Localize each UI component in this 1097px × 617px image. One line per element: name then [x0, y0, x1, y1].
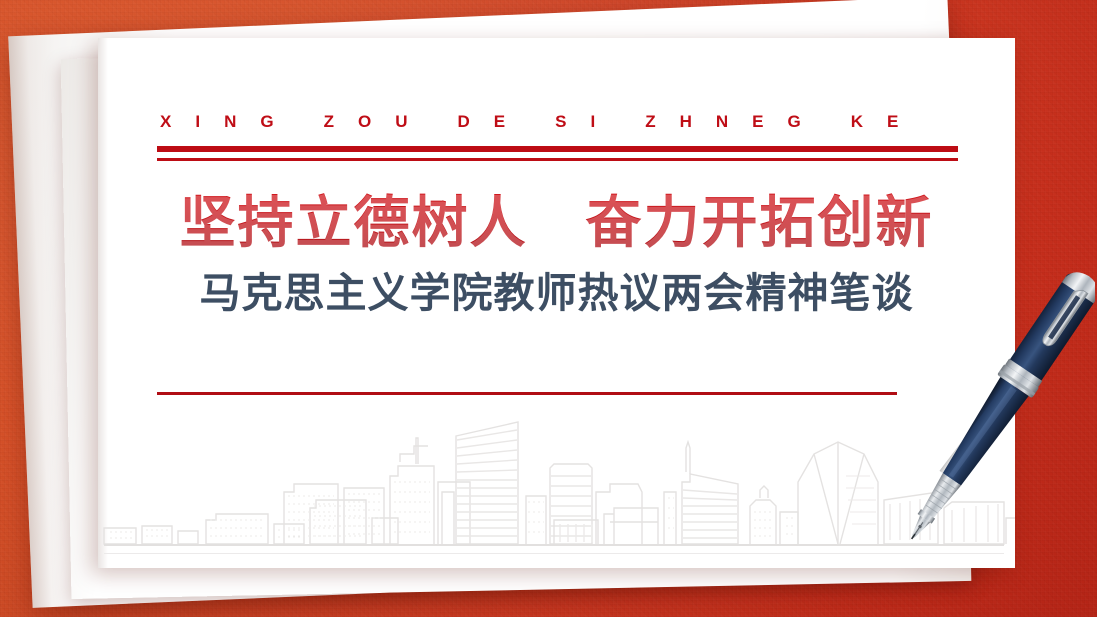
pinyin-letter: H	[680, 112, 693, 132]
page-title: 坚持立德树人 奋力开拓创新	[98, 191, 1015, 257]
pinyin-letter: E	[887, 112, 899, 132]
pinyin-kicker: XINGZOUDESIZHNEGKE	[160, 112, 960, 132]
poster-canvas: XINGZOUDESIZHNEGKE 坚持立德树人 奋力开拓创新 马克思主义学院…	[0, 0, 1097, 617]
pinyin-letter: Z	[324, 112, 335, 132]
pinyin-letter: N	[224, 112, 237, 132]
pinyin-letter: I	[195, 112, 201, 132]
city-skyline-watermark	[98, 396, 1015, 556]
pinyin-letter: D	[458, 112, 471, 132]
pinyin-kicker-text: XINGZOUDESIZHNEGKE	[160, 112, 922, 131]
skyline-baseline	[104, 544, 1004, 546]
pinyin-letter: Z	[645, 112, 656, 132]
pinyin-letter: X	[160, 112, 172, 132]
pinyin-letter: N	[716, 112, 729, 132]
pinyin-letter: E	[752, 112, 764, 132]
double-rule-thin	[157, 158, 958, 161]
pinyin-letter: K	[851, 112, 864, 132]
pinyin-letter: O	[358, 112, 372, 132]
pinyin-letter: E	[494, 112, 506, 132]
pinyin-letter: U	[395, 112, 408, 132]
divider-rule	[157, 392, 897, 395]
pinyin-letter: G	[788, 112, 802, 132]
pinyin-letter: S	[555, 112, 567, 132]
page-subtitle: 马克思主义学院教师热议两会精神笔谈	[98, 269, 1015, 318]
double-rule-thick	[157, 146, 958, 152]
skyline-baseline-secondary	[104, 553, 1004, 554]
pinyin-letter: I	[590, 112, 596, 132]
pinyin-letter: G	[260, 112, 274, 132]
